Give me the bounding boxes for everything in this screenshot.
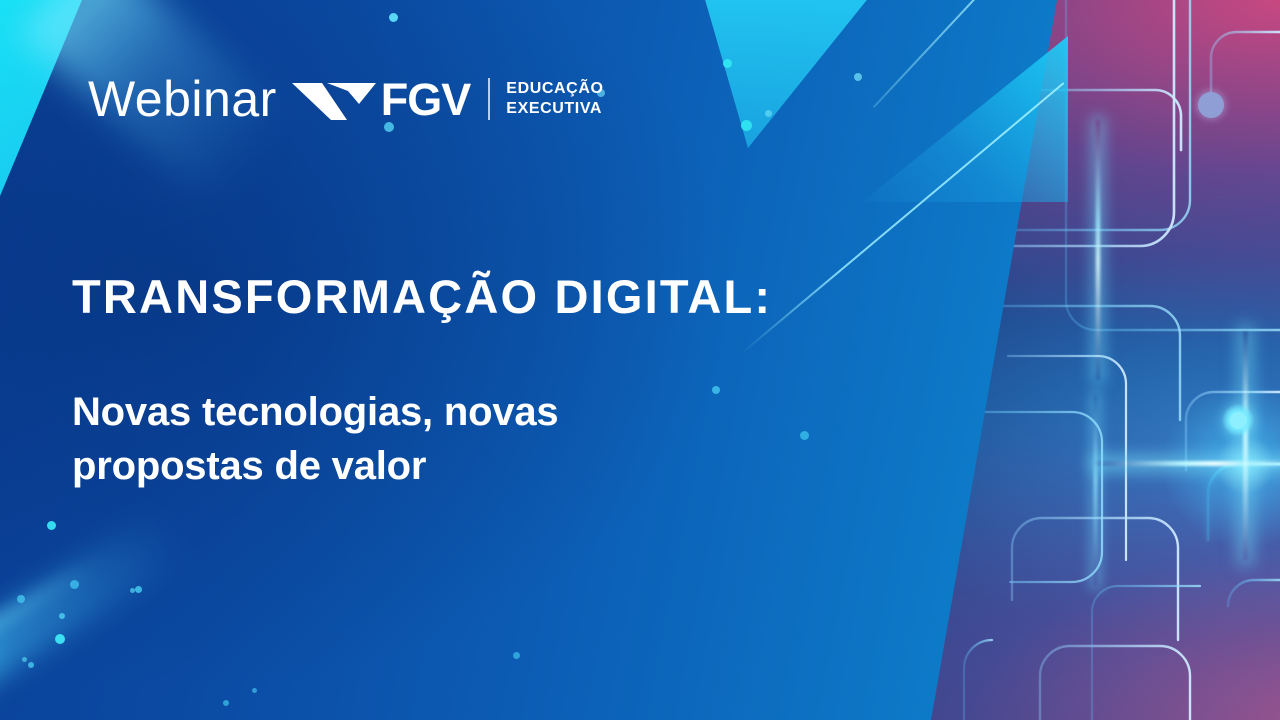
glow-streak-icon [1096, 120, 1100, 380]
webinar-title-slide: Webinar FGV EDUCAÇÃO EXECUTIVA TRANSFORM… [0, 0, 1280, 720]
fgv-tagline-line1: EDUCAÇÃO [506, 79, 603, 99]
glow-streak-icon [1095, 461, 1280, 466]
fgv-tagline: EDUCAÇÃO EXECUTIVA [506, 79, 603, 120]
page-subtitle: Novas tecnologias, novas propostas de va… [72, 386, 558, 493]
slide-header: Webinar FGV EDUCAÇÃO EXECUTIVA [88, 74, 604, 124]
fgv-logo-lockup: FGV EDUCAÇÃO EXECUTIVA [291, 75, 604, 123]
fgv-chevron-mark-icon [291, 75, 377, 123]
glow-streak-icon [1094, 395, 1097, 585]
webinar-label: Webinar [88, 74, 277, 124]
page-subtitle-line1: Novas tecnologias, novas [72, 386, 558, 440]
fgv-brand-name: FGV [381, 77, 471, 122]
page-subtitle-line2: propostas de valor [72, 440, 558, 494]
page-title: TRANSFORMAÇÃO DIGITAL: [72, 272, 772, 321]
vertical-divider-icon [488, 78, 490, 120]
glow-streak-icon [1243, 330, 1248, 560]
circuit-node-icon [1198, 92, 1224, 118]
fgv-tagline-line2: EXECUTIVA [506, 99, 603, 119]
